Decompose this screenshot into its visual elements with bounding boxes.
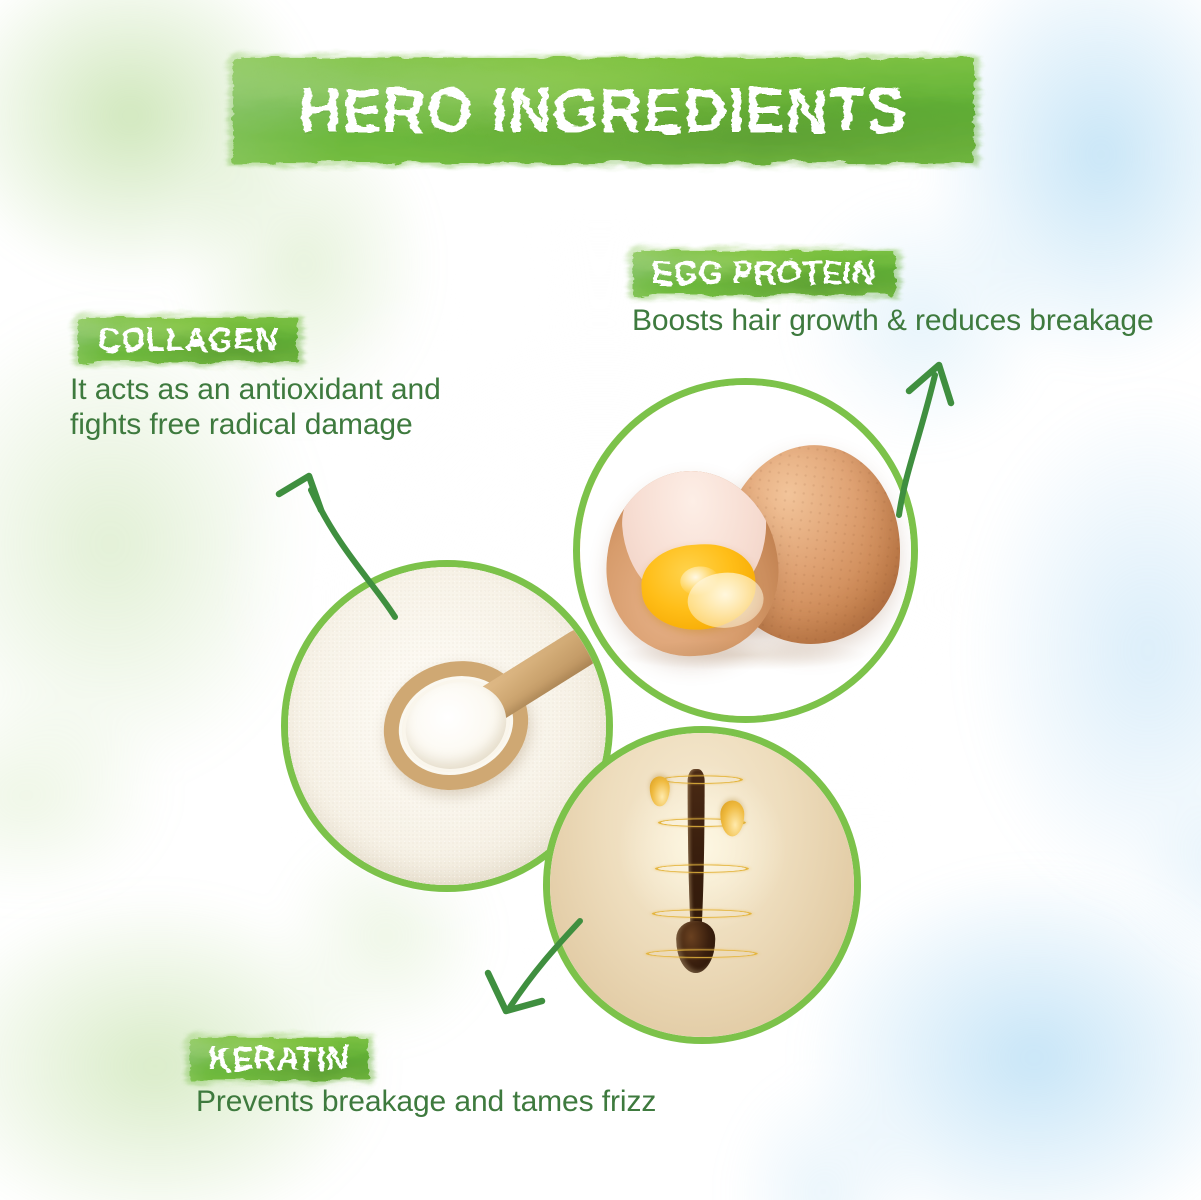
oil-spiral-ring-3 [655,864,749,872]
ingredient-label-text-keratin: KERATIN [208,1040,349,1078]
ingredient-description-collagen: It acts as an antioxidant and fights fre… [70,372,500,443]
infographic-canvas: HERO INGREDIENTS COLLAGEN It acts as an … [0,0,1201,1200]
collagen-powder-heap [395,670,519,783]
ingredient-description-egg-protein: Boosts hair growth & reduces breakage [632,303,1201,338]
ingredient-label-text-collagen: COLLAGEN [98,321,278,359]
ingredient-description-keratin: Prevents breakage and tames frizz [196,1084,756,1119]
ingredient-label-collagen: COLLAGEN [78,318,298,362]
ingredient-label-egg-protein: EGG PROTEIN [633,251,895,295]
ingredient-label-text-egg-protein: EGG PROTEIN [652,254,876,292]
page-title: HERO INGREDIENTS [299,75,907,147]
egg-drop-shadow [620,640,865,670]
ingredient-image-keratin [543,726,861,1044]
ingredient-label-keratin: KERATIN [190,1038,368,1080]
page-title-banner: HERO INGREDIENTS [233,58,974,163]
oil-spiral-ring-5 [646,949,758,957]
ingredient-image-egg-protein [573,378,918,723]
